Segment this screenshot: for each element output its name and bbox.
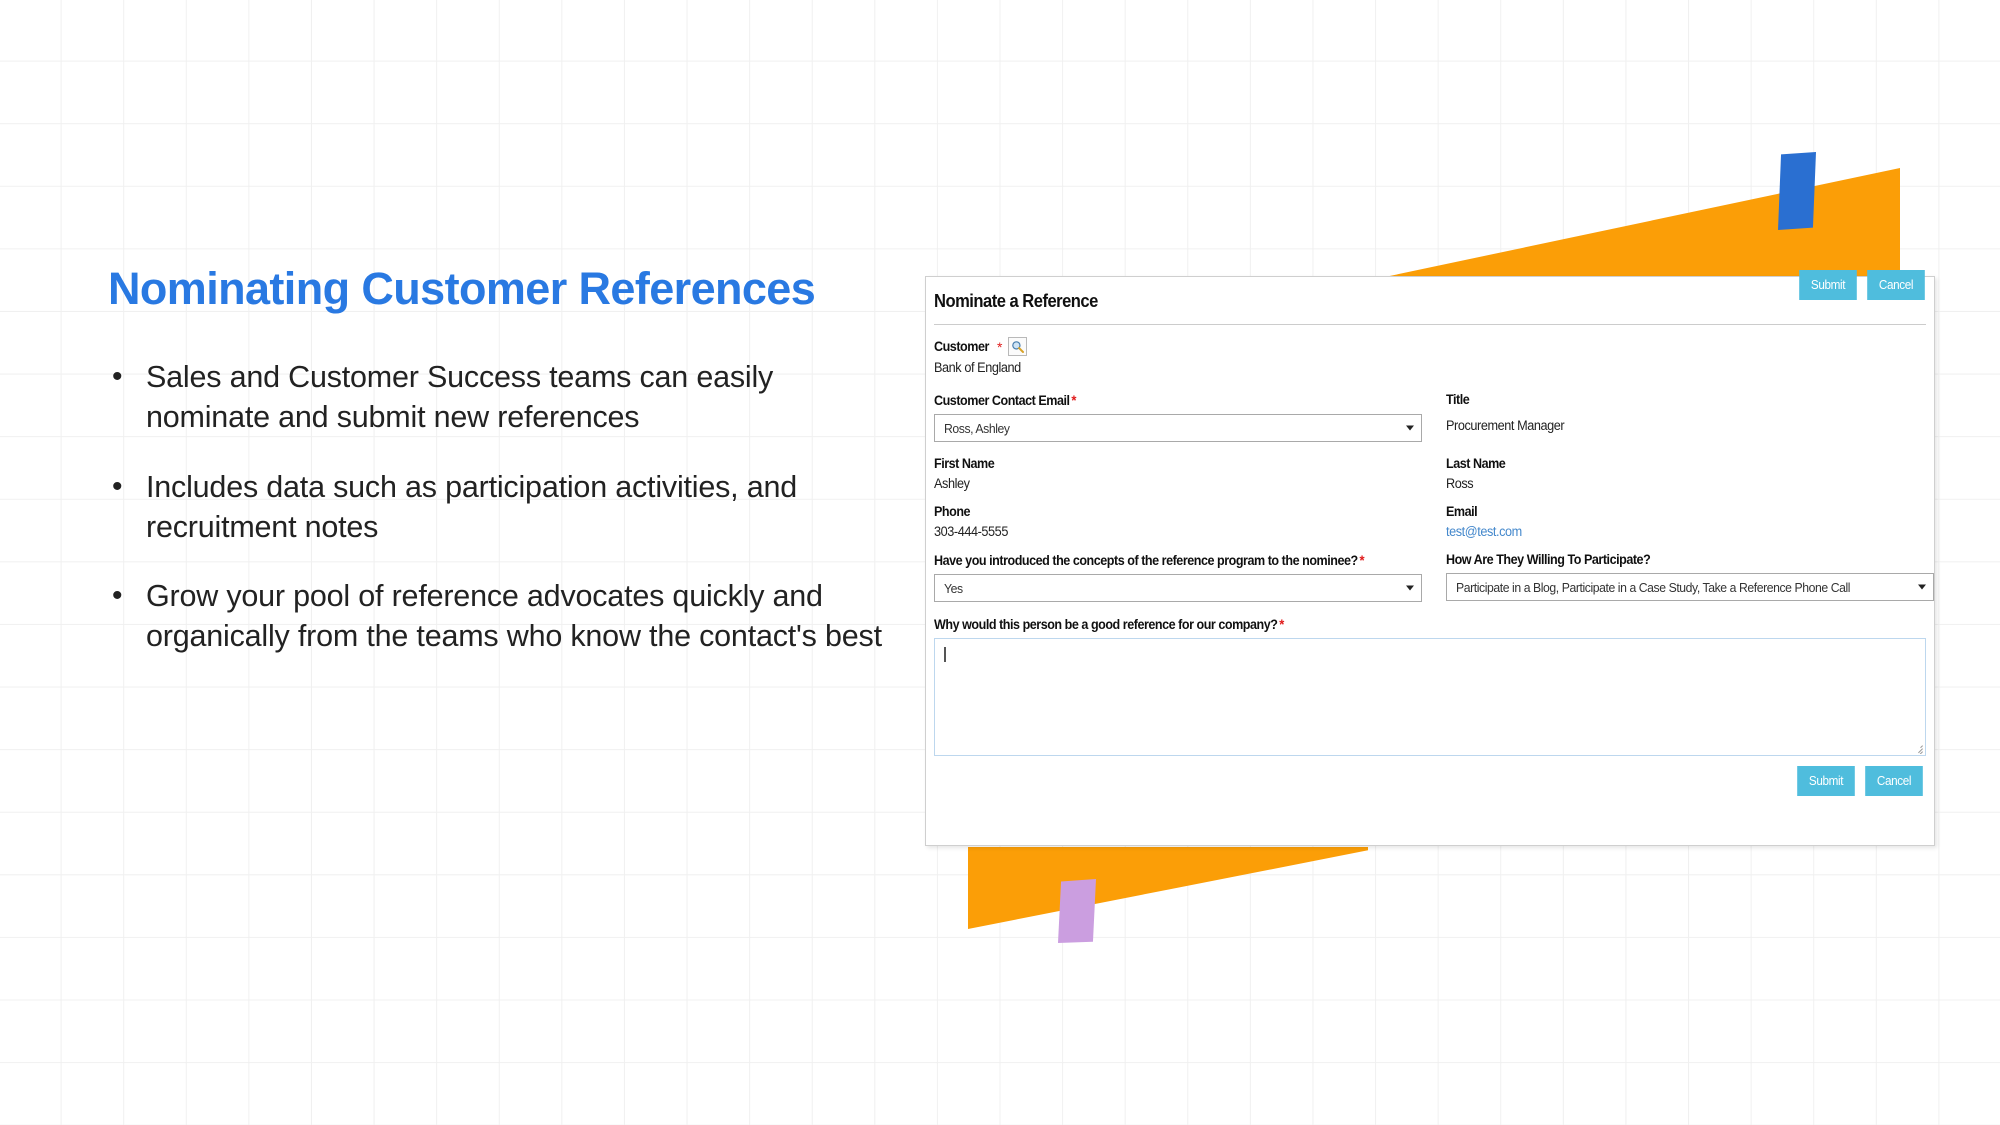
- customer-contact-email-label: Customer Contact Email*: [934, 392, 1388, 408]
- chevron-down-icon: [1918, 585, 1926, 590]
- phone-value: 303-444-5555: [934, 524, 1393, 539]
- bullet-marker-icon: •: [108, 576, 146, 616]
- list-item: • Includes data such as participation ac…: [108, 467, 888, 548]
- field-customer: Customer * Bank of England: [934, 337, 1926, 375]
- field-first-name: First Name Ashley: [934, 456, 1422, 491]
- willing-to-participate-value: Participate in a Blog, Participate in a …: [1456, 580, 1850, 595]
- form-row-phone-email: Phone 303-444-5555 Email test@test.com: [934, 504, 1926, 539]
- field-phone: Phone 303-444-5555: [934, 504, 1422, 539]
- title-value: Procurement Manager: [1446, 413, 1905, 433]
- form-body: Customer * Bank of England Customer Cont…: [926, 325, 1934, 796]
- last-name-value: Ross: [1446, 476, 1905, 491]
- field-customer-contact-email: Customer Contact Email* Ross, Ashley: [934, 392, 1422, 442]
- required-marker: *: [995, 339, 1002, 355]
- field-title: Title Procurement Manager: [1446, 392, 1934, 442]
- list-item: • Grow your pool of reference advocates …: [108, 576, 888, 657]
- required-marker: *: [1070, 392, 1076, 408]
- first-name-label: First Name: [934, 456, 1388, 471]
- text-cursor: [944, 647, 946, 662]
- form-row-email-title: Customer Contact Email* Ross, Ashley Tit…: [934, 392, 1926, 442]
- last-name-label: Last Name: [1446, 456, 1900, 471]
- field-willing-to-participate: How Are They Willing To Participate? Par…: [1446, 552, 1934, 602]
- field-last-name: Last Name Ross: [1446, 456, 1934, 491]
- email-label: Email: [1446, 504, 1900, 519]
- page-title: Nominating Customer References: [108, 262, 888, 315]
- form-row-participation: Have you introduced the concepts of the …: [934, 552, 1926, 602]
- bullet-marker-icon: •: [108, 467, 146, 507]
- blue-parallelogram-decoration: [1778, 152, 1816, 230]
- introduced-concepts-value: Yes: [944, 581, 963, 596]
- field-reason: Why would this person be a good referenc…: [934, 616, 1926, 756]
- customer-contact-email-value: Ross, Ashley: [944, 421, 1010, 436]
- purple-parallelogram-decoration: [1058, 879, 1096, 943]
- title-label: Title: [1446, 392, 1900, 407]
- customer-contact-email-select[interactable]: Ross, Ashley: [934, 414, 1422, 442]
- field-introduced-concepts: Have you introduced the concepts of the …: [934, 552, 1422, 602]
- resize-handle-icon[interactable]: [1913, 744, 1923, 754]
- cancel-button-bottom[interactable]: Cancel: [1865, 766, 1923, 796]
- willing-to-participate-label: How Are They Willing To Participate?: [1446, 552, 1900, 567]
- introduced-concepts-select[interactable]: Yes: [934, 574, 1422, 602]
- form-row-names: First Name Ashley Last Name Ross: [934, 456, 1926, 491]
- list-item-text: Sales and Customer Success teams can eas…: [146, 357, 888, 438]
- nominate-reference-form-panel: Nominate a Reference Submit Cancel Custo…: [925, 276, 1935, 846]
- slide-text-column: Nominating Customer References • Sales a…: [108, 262, 888, 686]
- submit-button-top[interactable]: Submit: [1799, 270, 1857, 300]
- required-marker: *: [1277, 616, 1283, 632]
- chevron-down-icon: [1406, 586, 1414, 591]
- customer-label: Customer: [934, 339, 989, 354]
- submit-button-bottom[interactable]: Submit: [1797, 766, 1855, 796]
- list-item-text: Includes data such as participation acti…: [146, 467, 888, 548]
- customer-value: Bank of England: [934, 360, 1866, 375]
- willing-to-participate-select[interactable]: Participate in a Blog, Participate in a …: [1446, 573, 1934, 601]
- introduced-concepts-label: Have you introduced the concepts of the …: [934, 552, 1388, 568]
- reason-label: Why would this person be a good referenc…: [934, 616, 1857, 632]
- list-item: • Sales and Customer Success teams can e…: [108, 357, 888, 438]
- slide-canvas: Nominating Customer References • Sales a…: [0, 0, 2000, 1125]
- orange-triangle-decoration-top: [1380, 168, 1900, 278]
- header-divider: [934, 324, 1926, 325]
- list-item-text: Grow your pool of reference advocates qu…: [146, 576, 888, 657]
- field-email: Email test@test.com: [1446, 504, 1934, 539]
- phone-label: Phone: [934, 504, 1388, 519]
- reason-textarea[interactable]: [934, 638, 1926, 756]
- cancel-button-top[interactable]: Cancel: [1867, 270, 1925, 300]
- form-header: Nominate a Reference Submit Cancel: [926, 277, 1934, 325]
- slide-bullet-list: • Sales and Customer Success teams can e…: [108, 357, 888, 657]
- header-action-buttons: Submit Cancel: [1796, 270, 1928, 300]
- chevron-down-icon: [1406, 426, 1414, 431]
- magnifier-lookup-icon[interactable]: [1008, 337, 1027, 356]
- bullet-marker-icon: •: [108, 357, 146, 397]
- required-marker: *: [1358, 552, 1364, 568]
- form-title: Nominate a Reference: [934, 291, 1854, 312]
- first-name-value: Ashley: [934, 476, 1393, 491]
- email-value-link[interactable]: test@test.com: [1446, 524, 1905, 539]
- orange-triangle-decoration-bottom: [968, 847, 1368, 929]
- footer-action-buttons: Submit Cancel: [934, 756, 1926, 796]
- customer-label-row: Customer *: [934, 337, 1926, 356]
